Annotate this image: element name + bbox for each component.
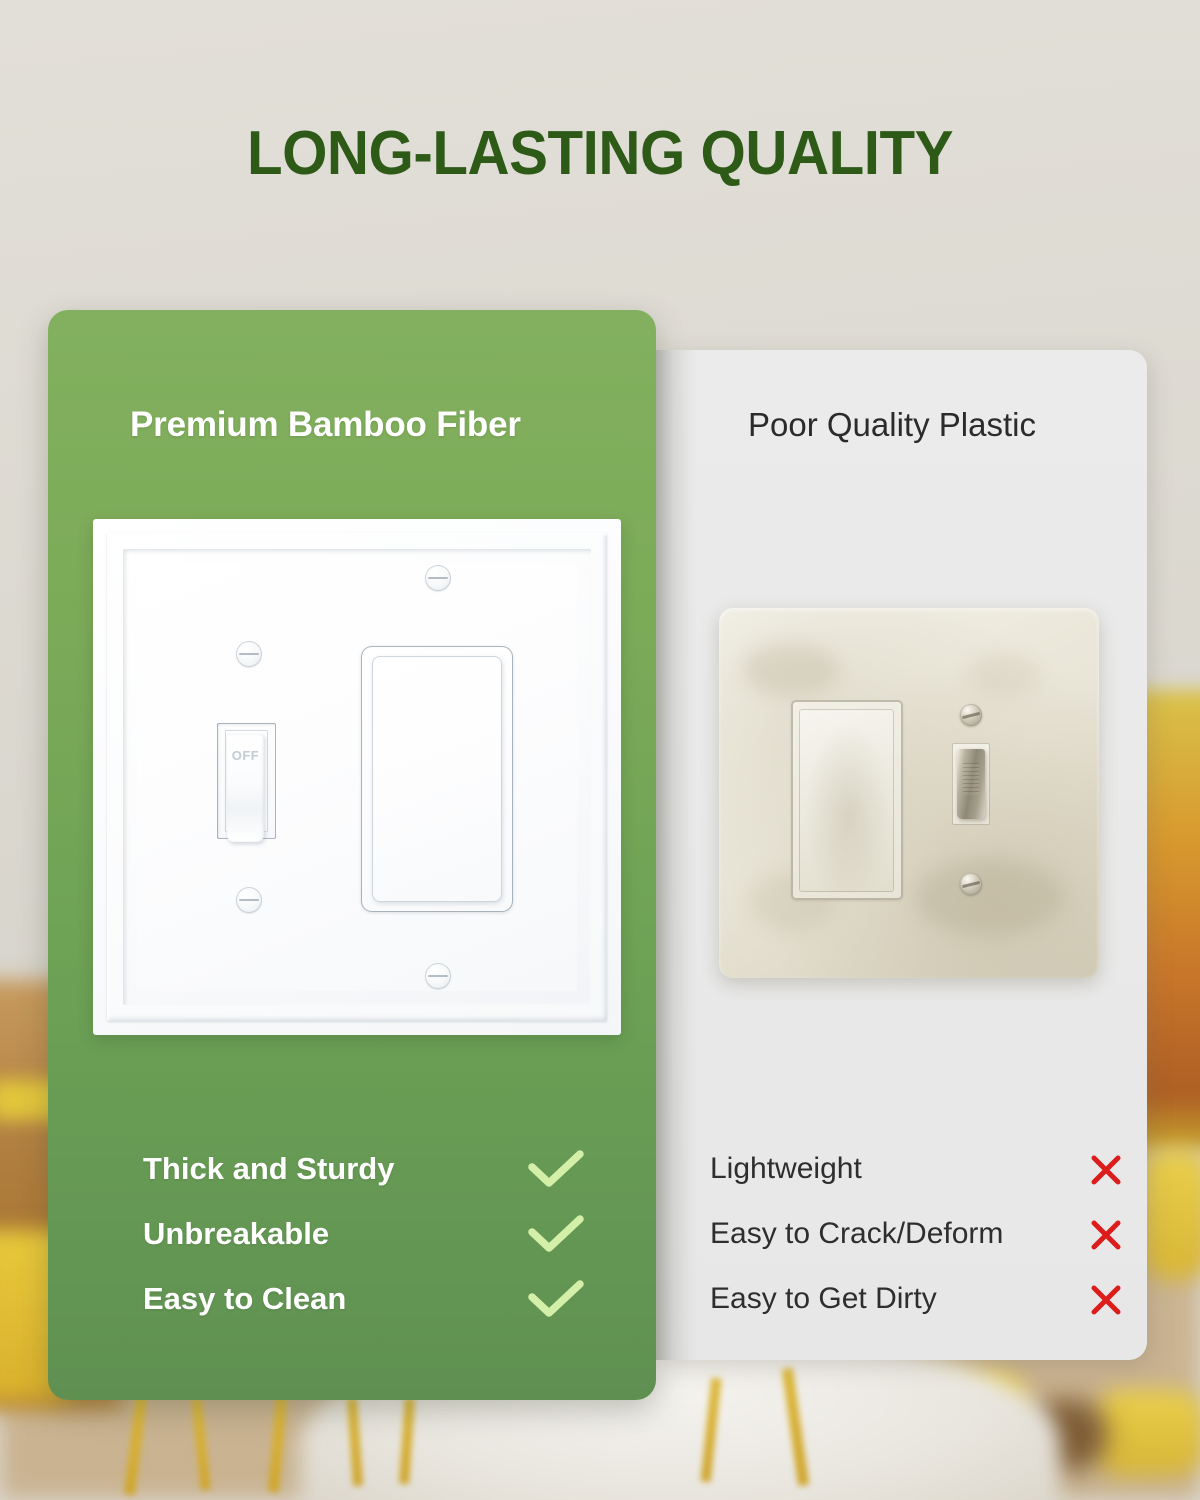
bamboo-rocker-switch-paddle[interactable]: [372, 656, 502, 902]
feature-list-plastic: Lightweight Easy to Crack/Deform Easy to…: [710, 1136, 1110, 1331]
plastic-rocker-switch-paddle[interactable]: [799, 709, 894, 892]
plastic-plate-screw-top: [960, 704, 982, 726]
bamboo-plate-screw-upper-left: [236, 641, 262, 667]
check-icon: [528, 1150, 584, 1195]
check-icon: [528, 1215, 584, 1260]
feature-row: Easy to Crack/Deform: [710, 1201, 1110, 1266]
feature-label: Unbreakable: [143, 1216, 329, 1252]
cross-icon: [1088, 1152, 1124, 1193]
plastic-plate-screw-bottom: [960, 873, 982, 895]
grime-smudge: [915, 858, 1065, 936]
feature-row: Easy to Clean: [143, 1266, 563, 1331]
check-icon: [528, 1280, 584, 1325]
bamboo-plate-screw-bottom: [425, 963, 451, 989]
feature-label: Easy to Crack/Deform: [710, 1217, 1003, 1251]
grime-smudge: [743, 644, 839, 696]
background-yellow-seat-right: [1140, 1150, 1200, 1280]
feature-row: Thick and Sturdy: [143, 1136, 563, 1201]
page-title: LONG-LASTING QUALITY: [36, 118, 1164, 189]
card-heading-bamboo: Premium Bamboo Fiber: [130, 405, 521, 445]
card-heading-plastic: Poor Quality Plastic: [748, 406, 1036, 444]
feature-row: Easy to Get Dirty: [710, 1266, 1110, 1331]
feature-row: Unbreakable: [143, 1201, 563, 1266]
product-image-bamboo-wall-plate: [93, 519, 621, 1035]
feature-list-bamboo: Thick and Sturdy Unbreakable Easy to Cle…: [143, 1136, 563, 1331]
grime-smudge: [969, 652, 1039, 698]
infographic-canvas: LONG-LASTING QUALITY Poor Quality Plasti…: [0, 0, 1200, 1500]
feature-label: Lightweight: [710, 1152, 862, 1186]
cross-icon: [1088, 1282, 1124, 1323]
feature-row: Lightweight: [710, 1136, 1110, 1201]
plastic-toggle-switch-lever[interactable]: [957, 749, 985, 819]
bamboo-plate-screw-lower-left: [236, 887, 262, 913]
bamboo-plate-screw-top: [425, 565, 451, 591]
bamboo-toggle-switch-off-label: OFF: [228, 748, 263, 763]
background-yellow-seat-bottom-right: [1094, 1390, 1200, 1476]
feature-label: Easy to Get Dirty: [710, 1282, 937, 1316]
product-image-plastic-wall-plate: [719, 608, 1099, 978]
feature-label: Thick and Sturdy: [143, 1151, 394, 1187]
cross-icon: [1088, 1217, 1124, 1258]
feature-label: Easy to Clean: [143, 1281, 346, 1317]
